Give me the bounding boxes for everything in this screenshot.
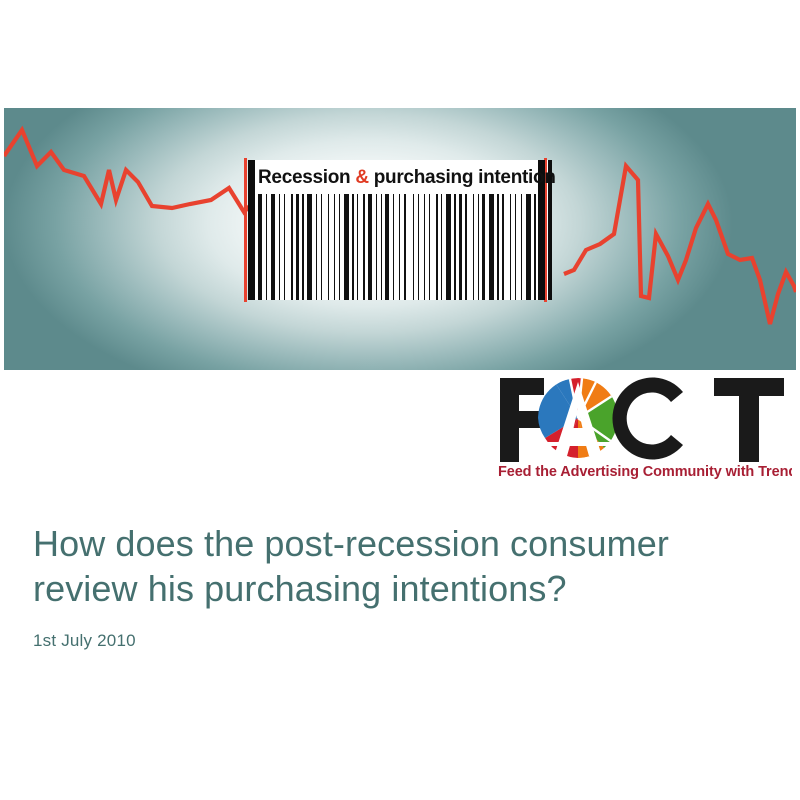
barcode-bar <box>271 194 275 300</box>
barcode-label-part1: Recession <box>258 167 355 188</box>
barcode-graphic: Recession & purchasing intention <box>240 160 560 300</box>
barcode-bar <box>465 194 467 300</box>
barcode-label: Recession & purchasing intention <box>258 164 536 192</box>
chart-line-right <box>564 166 796 324</box>
barcode-bar <box>328 194 329 300</box>
barcode-bar <box>385 194 389 300</box>
barcode-bar <box>424 194 425 300</box>
barcode-bar <box>441 194 442 300</box>
barcode-label-ampersand: & <box>355 167 368 188</box>
barcode-bar <box>381 194 382 300</box>
barcode-bar <box>526 194 531 300</box>
barcode-bar <box>459 194 462 300</box>
barcode-bar <box>339 194 340 300</box>
barcode-label-part2: purchasing intention <box>369 167 556 188</box>
barcode-bar <box>510 194 511 300</box>
barcode-bar <box>473 194 474 300</box>
barcode-bar <box>502 194 504 300</box>
barcode-bar <box>284 194 285 300</box>
barcode-bar <box>515 194 516 300</box>
barcode-bar <box>296 194 299 300</box>
barcode-bar <box>357 194 358 300</box>
barcode-bar <box>266 194 267 300</box>
logo-letter-f <box>500 378 544 462</box>
logo-letter-c <box>602 372 683 460</box>
barcode-bar <box>334 194 335 300</box>
barcode-bar <box>413 194 414 300</box>
title-block: How does the post-recession consumer rev… <box>33 522 763 651</box>
barcode-bar <box>446 194 451 300</box>
barcode-bar <box>393 194 394 300</box>
logo-tagline: Feed the Advertising Community with Tren… <box>498 464 792 480</box>
barcode-bar <box>302 194 304 300</box>
barcode-bar <box>363 194 365 300</box>
barcode-bar <box>404 194 406 300</box>
page-title-line-2: review his purchasing intentions? <box>33 568 567 609</box>
barcode-bar <box>521 194 522 300</box>
barcode-bar <box>478 194 479 300</box>
barcode-bar <box>489 194 494 300</box>
barcode-bar <box>454 194 456 300</box>
barcode-guard-left <box>248 160 255 300</box>
logo-letter-t <box>714 378 784 462</box>
fact-logo: Feed the Advertising Community with Tren… <box>492 372 792 480</box>
title-slide: Recession & purchasing intention <box>0 0 800 800</box>
barcode-bar <box>399 194 400 300</box>
barcode-bar <box>307 194 312 300</box>
barcode-bar <box>344 194 349 300</box>
barcode-bar <box>368 194 372 300</box>
barcode-bar <box>534 194 536 300</box>
barcode-bar <box>258 194 262 300</box>
barcode-bar <box>316 194 317 300</box>
barcode-bar <box>482 194 485 300</box>
barcode-bar <box>376 194 377 300</box>
slide-date: 1st July 2010 <box>33 631 763 651</box>
barcode-bar <box>418 194 419 300</box>
barcode-bar <box>436 194 438 300</box>
barcode-red-line-left <box>244 158 247 302</box>
barcode-bar <box>279 194 280 300</box>
barcode-bar <box>352 194 354 300</box>
page-title: How does the post-recession consumer rev… <box>33 522 763 611</box>
barcode-bar <box>291 194 293 300</box>
barcode-bar <box>429 194 430 300</box>
barcode-bars <box>258 194 536 300</box>
banner-image: Recession & purchasing intention <box>4 108 796 370</box>
barcode-bar <box>321 194 322 300</box>
logo-letter-a-wheel <box>538 378 618 458</box>
page-title-line-1: How does the post-recession consumer <box>33 523 669 564</box>
barcode-bar <box>497 194 499 300</box>
